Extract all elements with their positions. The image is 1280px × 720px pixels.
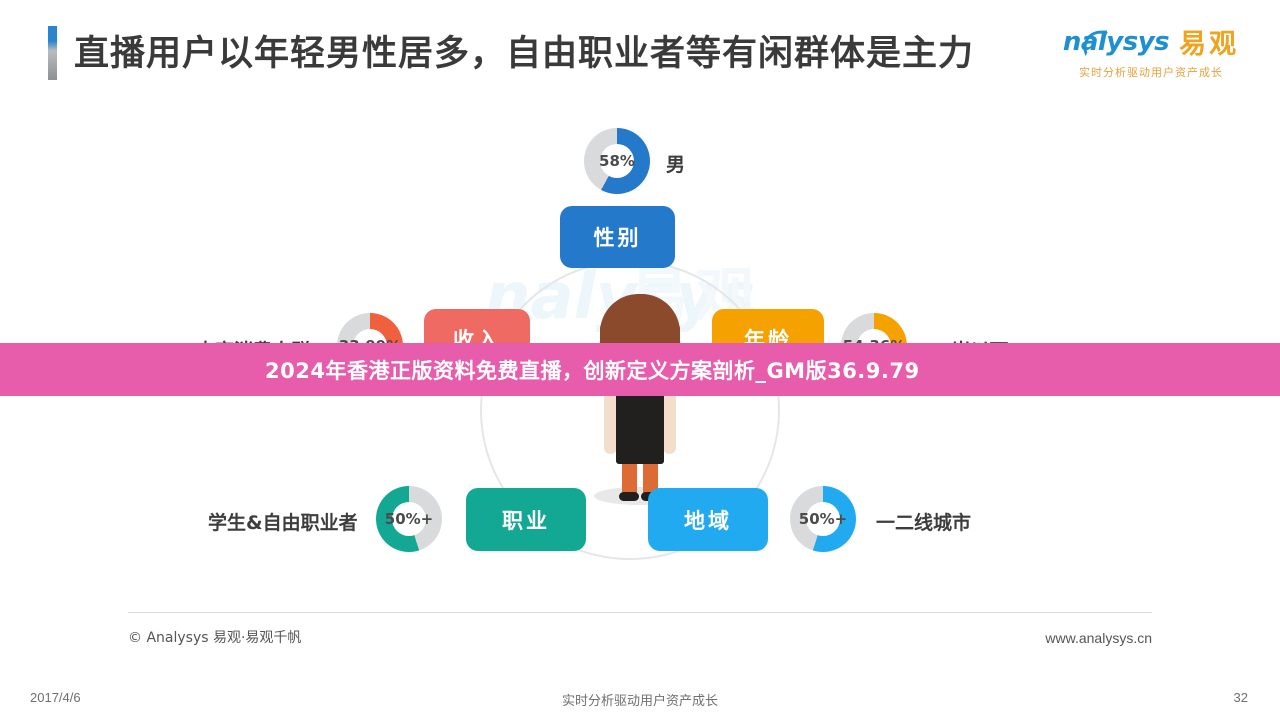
page-title: 直播用户以年轻男性居多，自由职业者等有闲群体是主力 — [74, 25, 974, 76]
slide-header: 直播用户以年轻男性居多，自由职业者等有闲群体是主力 nalysys 易观 实时分… — [0, 0, 1280, 110]
slide-tagline: 实时分析驱动用户资产成长 — [562, 690, 718, 709]
item-label-occupation: 学生&自由职业者 — [208, 508, 358, 535]
analysys-logo: nalysys 易观 实时分析驱动用户资产成长 — [1056, 22, 1246, 84]
logo-cn-text: 易观 — [1179, 22, 1239, 61]
promo-banner: 2024年香港正版资料免费直播，创新定义方案剖析_GM版36.9.79 — [0, 343, 1280, 396]
donut-gauge-region: 50%+ — [790, 486, 856, 552]
category-box-occupation[interactable]: 职业 — [466, 488, 586, 551]
footer-copyright: © Analysys 易观·易观千帆 — [128, 627, 301, 647]
category-box-region[interactable]: 地域 — [648, 488, 768, 551]
donut-value-region: 50%+ — [799, 510, 847, 528]
footer-website[interactable]: www.analysys.cn — [1045, 630, 1152, 646]
donut-gauge-occupation: 50%+ — [376, 486, 442, 552]
title-accent-bar — [48, 26, 57, 80]
donut-value-occupation: 50%+ — [385, 510, 433, 528]
promo-banner-text: 2024年香港正版资料免费直播，创新定义方案剖析_GM版36.9.79 — [265, 355, 920, 385]
donut-gauge-gender: 58% — [584, 128, 650, 194]
slide-canvas: 直播用户以年轻男性居多，自由职业者等有闲群体是主力 nalysys 易观 实时分… — [0, 0, 1280, 720]
slide-page-number: 32 — [1234, 690, 1248, 705]
slide-date: 2017/4/6 — [30, 690, 81, 705]
donut-value-gender: 58% — [599, 152, 635, 170]
item-label-gender: 男 — [666, 150, 685, 177]
category-box-gender[interactable]: 性别 — [560, 206, 675, 268]
slide-bottom-bar: 2017/4/6 实时分析驱动用户资产成长 32 — [0, 680, 1280, 720]
footer-divider — [128, 612, 1152, 613]
item-label-region: 一二线城市 — [876, 508, 971, 535]
user-persona-illustration — [572, 282, 708, 512]
logo-tagline: 实时分析驱动用户资产成长 — [1056, 64, 1246, 80]
